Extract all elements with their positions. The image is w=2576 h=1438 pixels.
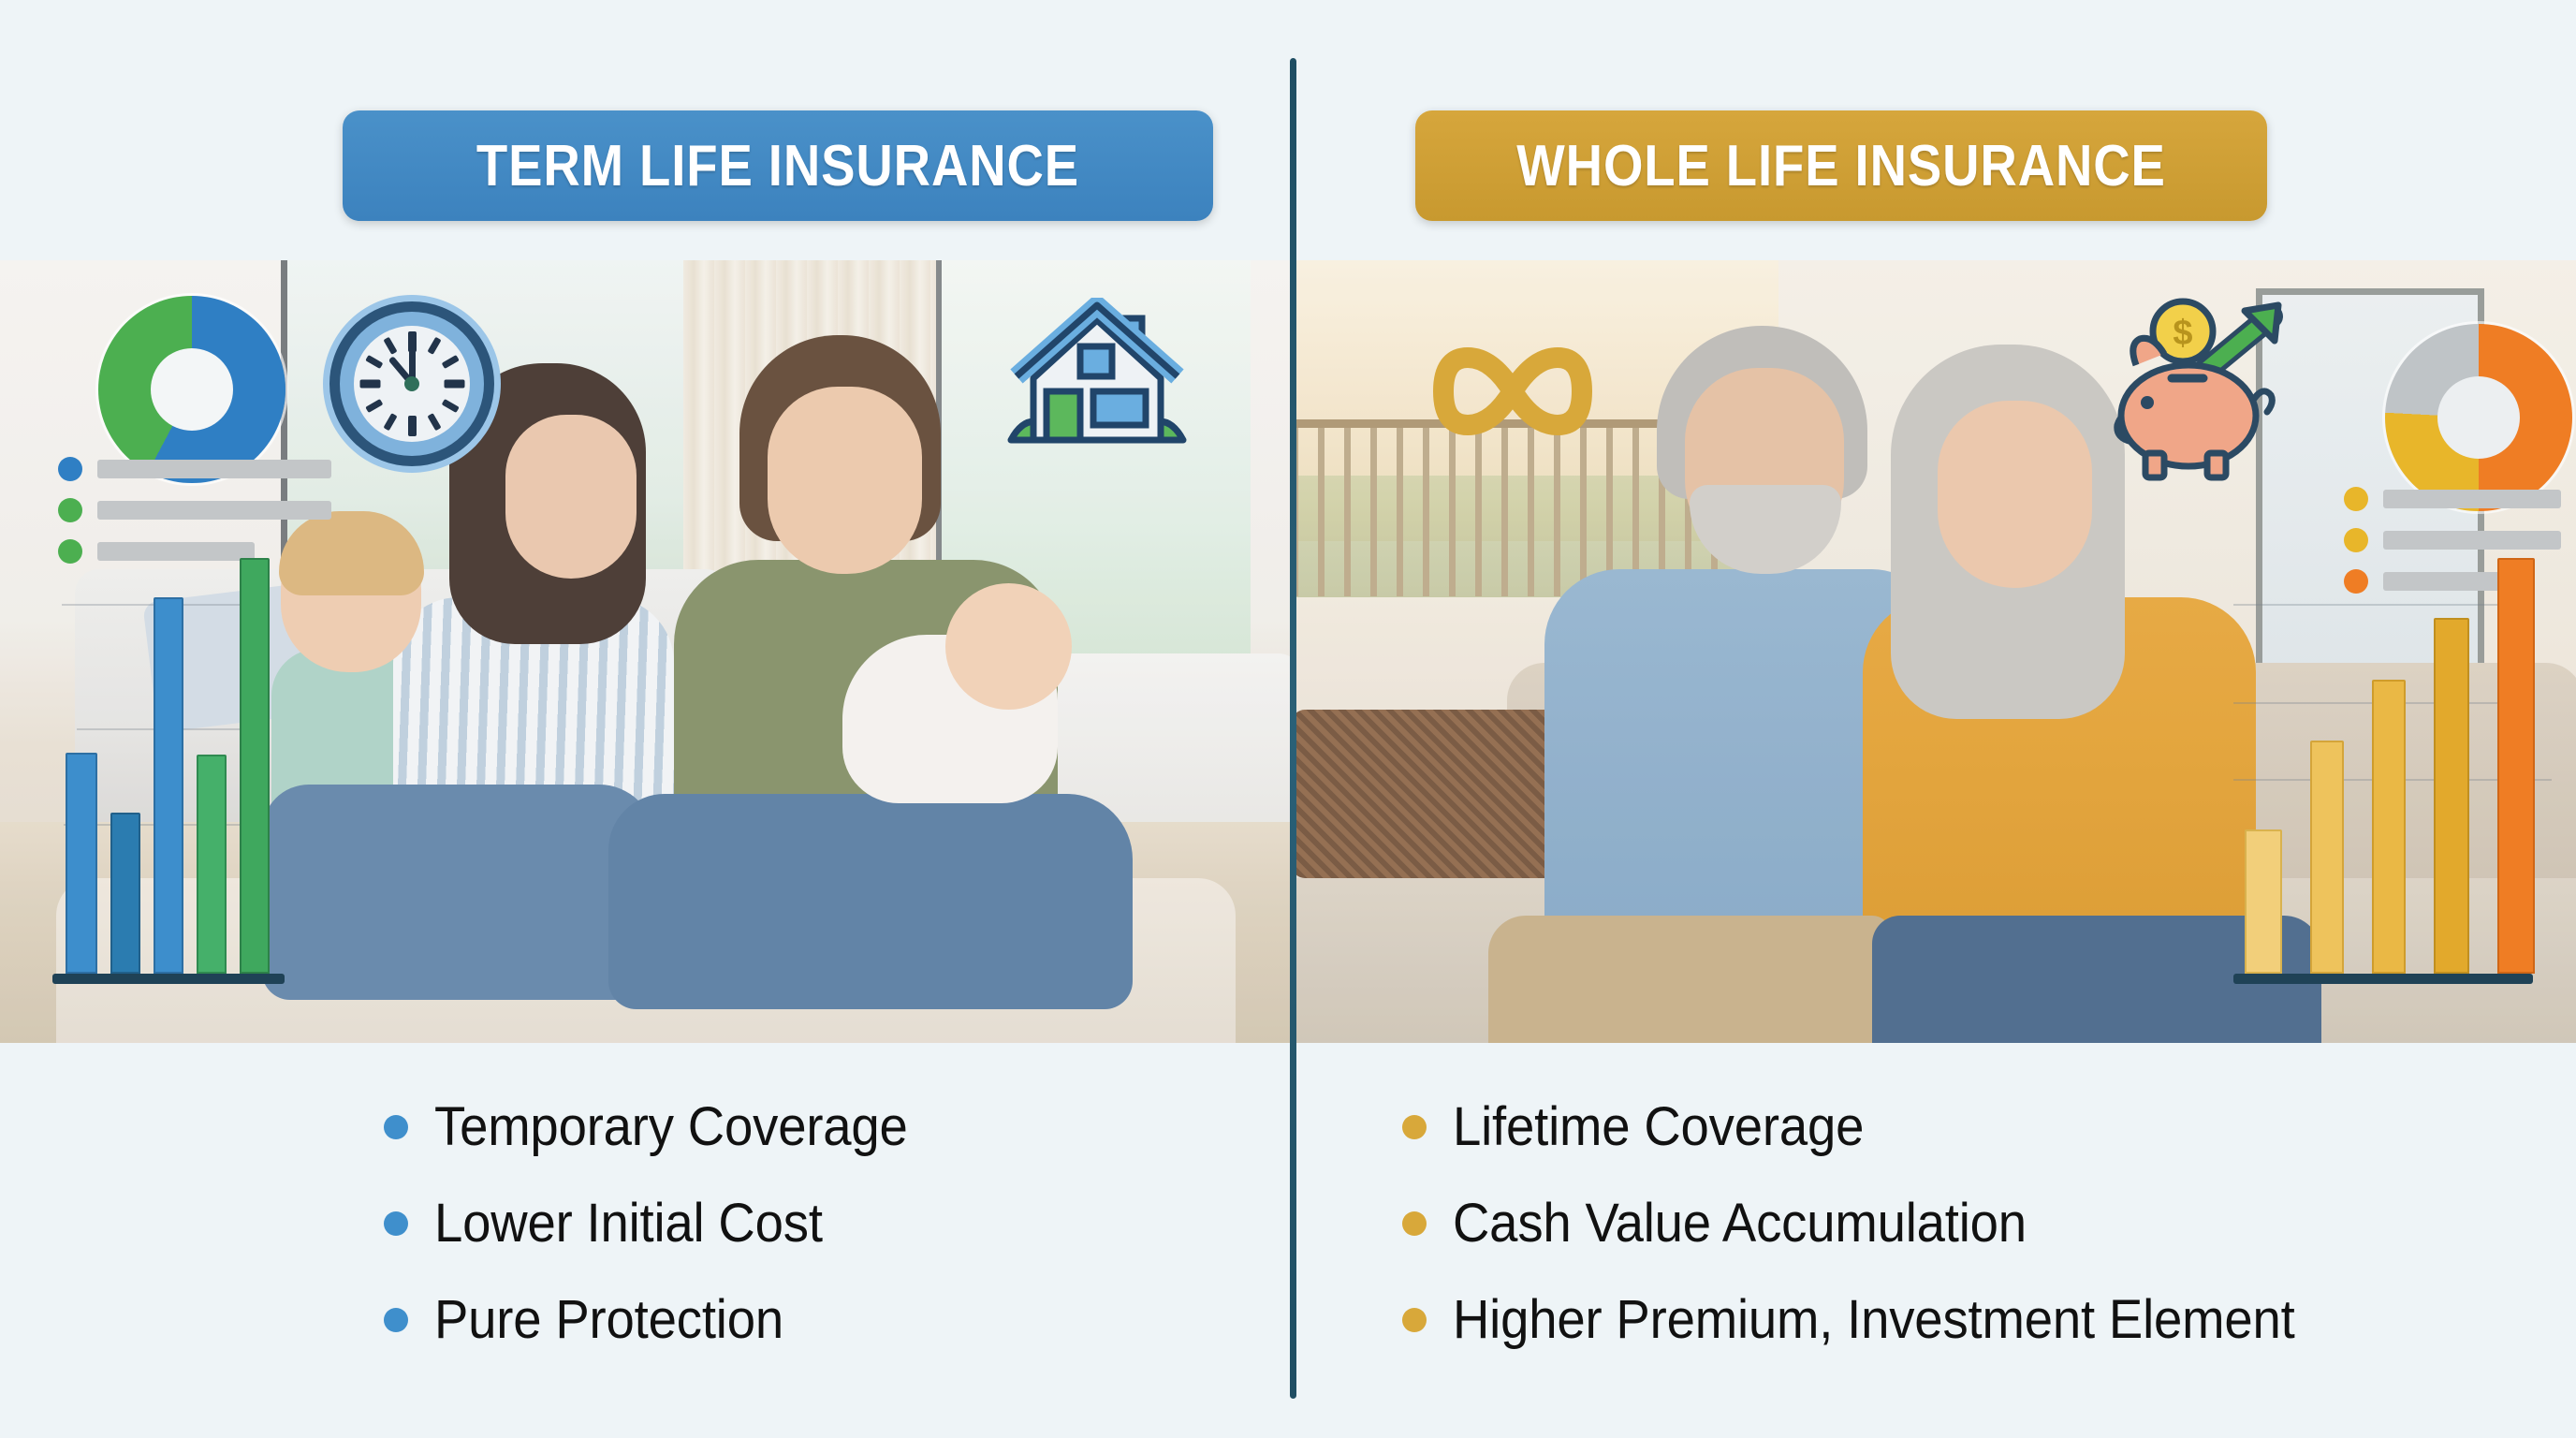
list-item-label: Pure Protection: [434, 1288, 783, 1351]
bar: [240, 558, 270, 974]
whole-life-banner: WHOLE LIFE INSURANCE: [1415, 110, 2267, 221]
baby-head: [945, 583, 1072, 710]
bullet-dot-icon: [384, 1211, 408, 1236]
donut-chart-icon: [2385, 324, 2572, 511]
bar: [66, 753, 97, 974]
woman-face: [1938, 401, 2092, 588]
list-item: Lower Initial Cost: [384, 1192, 938, 1255]
legend-bar: [97, 460, 331, 478]
comparison-infographic: TERM LIFE INSURANCE WHOLE LIFE INSURANCE: [0, 0, 2576, 1438]
mother-jeans: [262, 785, 655, 1000]
whole-life-bullet-list: Lifetime Coverage Cash Value Accumulatio…: [1402, 1095, 2349, 1385]
man-trousers: [1488, 916, 1891, 1043]
bullet-dot-icon: [1402, 1115, 1427, 1139]
legend-dot: [58, 539, 82, 564]
clock-icon: [329, 301, 494, 466]
legend-dot: [2344, 528, 2368, 552]
bar: [110, 813, 140, 974]
bullet-dot-icon: [1402, 1308, 1427, 1332]
list-item-label: Lower Initial Cost: [434, 1192, 823, 1255]
bar-chart-icon: [21, 562, 264, 992]
bullet-dot-icon: [1402, 1211, 1427, 1236]
list-item: Pure Protection: [384, 1288, 938, 1351]
list-item-label: Higher Premium, Investment Element: [1453, 1288, 2295, 1351]
legend-row: [58, 498, 367, 522]
svg-text:$: $: [2173, 314, 2192, 353]
legend-bar: [2383, 490, 2561, 508]
term-life-banner-label: TERM LIFE INSURANCE: [476, 133, 1079, 199]
list-item-label: Cash Value Accumulation: [1453, 1192, 2027, 1255]
piggy-bank-icon: $: [2114, 288, 2357, 494]
bar: [2434, 618, 2469, 974]
bullet-dot-icon: [384, 1115, 408, 1139]
list-item: Higher Premium, Investment Element: [1402, 1288, 2349, 1351]
legend-row: [58, 539, 367, 564]
legend-row: [2344, 528, 2576, 552]
bar: [197, 755, 227, 974]
legend-bar: [97, 501, 331, 520]
father-jeans: [608, 794, 1133, 1009]
legend-row: [2344, 487, 2576, 511]
list-item-label: Lifetime Coverage: [1453, 1095, 1864, 1158]
list-item: Lifetime Coverage: [1402, 1095, 2349, 1158]
list-item-label: Temporary Coverage: [434, 1095, 908, 1158]
bar: [2497, 558, 2535, 974]
legend-bar: [2383, 531, 2561, 550]
bullet-dot-icon: [384, 1308, 408, 1332]
term-life-bullet-list: Temporary Coverage Lower Initial Cost Pu…: [384, 1095, 938, 1385]
legend-bar: [97, 542, 255, 561]
legend-row: [58, 457, 367, 481]
father-face: [768, 387, 922, 574]
whole-life-banner-label: WHOLE LIFE INSURANCE: [1516, 133, 2166, 199]
mother-face: [505, 415, 637, 579]
list-item: Cash Value Accumulation: [1402, 1192, 2349, 1255]
bar: [2372, 680, 2406, 974]
list-item: Temporary Coverage: [384, 1095, 938, 1158]
legend-dot: [58, 498, 82, 522]
term-life-banner: TERM LIFE INSURANCE: [343, 110, 1213, 221]
bar: [2245, 829, 2282, 974]
infinity-icon: [1387, 326, 1593, 457]
panel-divider: [1290, 58, 1296, 1399]
donut-chart-icon: [98, 296, 285, 483]
bar-chart-icon: [2233, 562, 2570, 992]
legend-dot: [58, 457, 82, 481]
legend-dot: [2344, 487, 2368, 511]
house-icon: [994, 298, 1200, 485]
bar: [154, 597, 183, 974]
bar: [2310, 741, 2344, 974]
